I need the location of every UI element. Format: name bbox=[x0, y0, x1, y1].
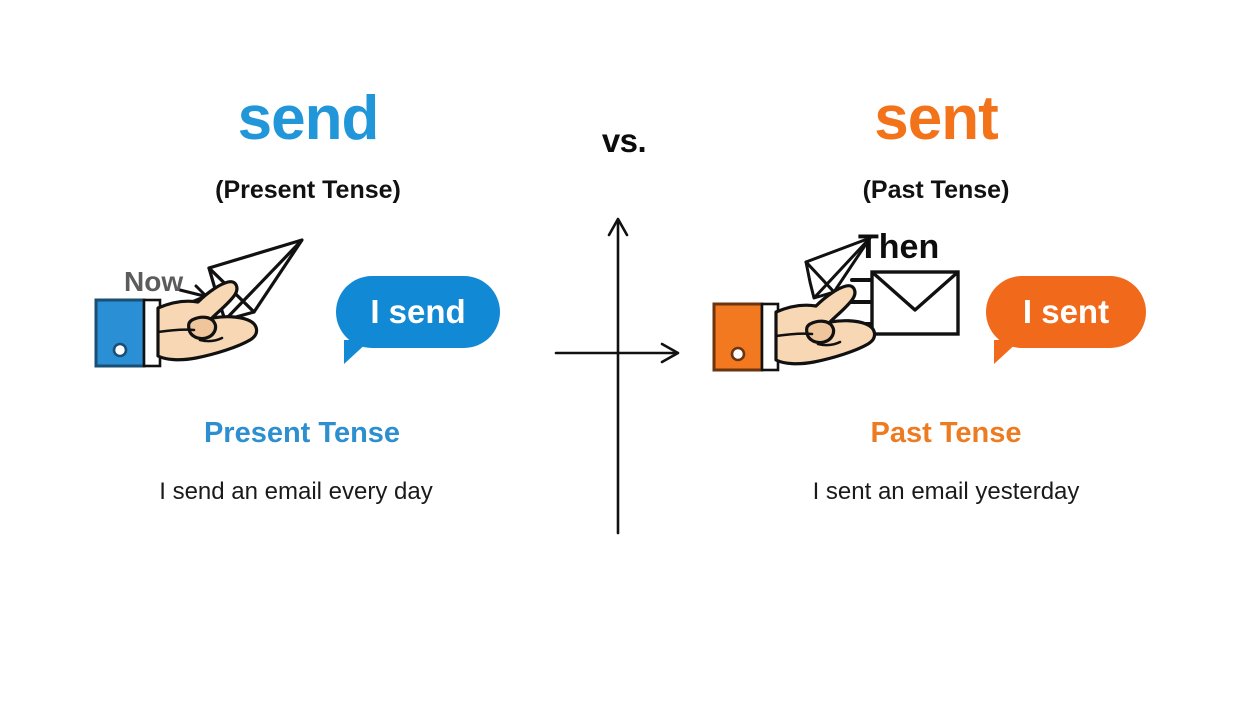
left-bubble-text: I send bbox=[370, 293, 465, 331]
send-hand-plane-illustration bbox=[88, 228, 328, 380]
left-speech-bubble: I send bbox=[336, 276, 500, 348]
timeline-divider bbox=[548, 205, 688, 545]
bubble-tail bbox=[344, 340, 370, 364]
right-time-label: Then bbox=[858, 230, 939, 264]
bubble-tail bbox=[994, 340, 1020, 364]
hand-icon bbox=[776, 286, 875, 364]
right-word-title: sent bbox=[756, 88, 1116, 150]
axis-divider-icon bbox=[548, 205, 688, 545]
right-tense-parenthetical: (Past Tense) bbox=[756, 176, 1116, 205]
left-tense-parenthetical: (Present Tense) bbox=[128, 176, 488, 205]
right-example-sentence: I sent an email yesterday bbox=[716, 478, 1176, 506]
vs-label: vs. bbox=[556, 122, 692, 160]
right-tense-name: Past Tense bbox=[716, 417, 1176, 450]
left-illustration bbox=[88, 228, 328, 380]
right-bubble-text: I sent bbox=[1023, 293, 1109, 331]
envelope-icon bbox=[872, 272, 958, 334]
sleeve-blue bbox=[96, 300, 160, 366]
left-tense-name: Present Tense bbox=[72, 417, 532, 450]
right-speech-bubble: I sent bbox=[986, 276, 1146, 348]
diagram-canvas: send (Present Tense) bbox=[0, 0, 1248, 702]
left-time-label: Now bbox=[124, 268, 183, 296]
left-example-sentence: I send an email every day bbox=[66, 478, 526, 506]
left-word-title: send bbox=[128, 88, 488, 150]
sleeve-orange bbox=[714, 304, 778, 370]
